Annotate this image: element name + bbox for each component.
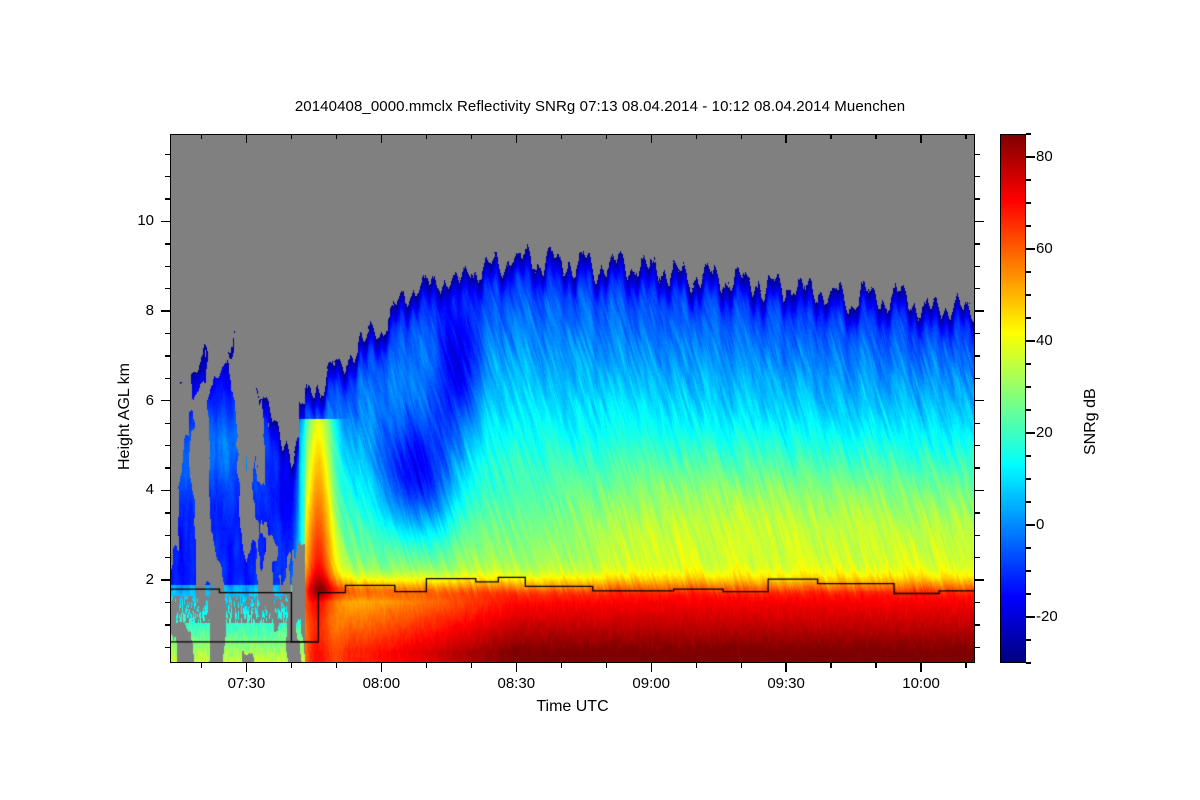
y-tick-minor [165,288,170,289]
y-tick-minor-right [975,333,980,334]
colorbar-tick-minor [1026,570,1031,571]
x-tick-minor [291,663,292,668]
y-tick-minor-right [975,198,980,199]
y-tick-minor-right [975,288,980,289]
y-tick-minor-right [975,423,980,424]
x-tick-major-top [920,134,921,143]
x-tick-minor-top [471,134,472,139]
x-tick-major [785,663,786,672]
y-tick-minor-right [975,602,980,603]
colorbar-tick-major [1026,432,1035,433]
x-axis-title: Time UTC [170,698,975,716]
y-tick-minor-right [975,266,980,267]
y-tick-major [161,400,170,401]
y-tick-minor [165,154,170,155]
y-tick-minor-right [975,378,980,379]
colorbar-tick-major [1026,616,1035,617]
x-tick-minor [741,663,742,668]
x-tick-minor [336,663,337,668]
x-tick-minor [875,663,876,668]
x-tick-minor [561,663,562,668]
y-tick-minor-right [975,176,980,177]
y-tick-minor-right [975,647,980,648]
colorbar-title: SNRg dB [1082,388,1100,455]
colorbar-tick-minor [1026,547,1031,548]
colorbar-tick-label: 80 [1036,148,1053,165]
colorbar-tick-minor [1026,225,1031,226]
x-tick-label: 08:30 [471,675,561,692]
y-tick-label: 8 [114,302,154,319]
colorbar-tick-minor [1026,179,1031,180]
y-tick-label: 10 [114,212,154,229]
reflectivity-heatmap [170,134,975,663]
colorbar [1000,134,1026,663]
colorbar-tick-minor [1026,363,1031,364]
colorbar-tick-minor [1026,639,1031,640]
colorbar-tick-major [1026,524,1035,525]
y-tick-major-right [975,221,984,222]
x-tick-major [651,663,652,672]
y-tick-minor-right [975,467,980,468]
colorbar-tick-label: 40 [1036,332,1053,349]
y-tick-minor-right [975,154,980,155]
colorbar-tick-minor [1026,662,1031,663]
colorbar-tick-minor [1026,271,1031,272]
y-tick-minor [165,624,170,625]
y-tick-major-right [975,400,984,401]
y-tick-minor [165,198,170,199]
colorbar-tick-minor [1026,317,1031,318]
colorbar-tick-minor [1026,386,1031,387]
colorbar-tick-major [1026,156,1035,157]
y-tick-minor [165,243,170,244]
figure-title: 20140408_0000.mmclx Reflectivity SNRg 07… [0,98,1200,115]
x-tick-minor-top [426,134,427,139]
colorbar-tick-minor [1026,501,1031,502]
x-tick-minor-top [561,134,562,139]
y-tick-minor [165,176,170,177]
x-tick-label: 08:00 [336,675,426,692]
x-tick-major-top [246,134,247,143]
y-tick-minor [165,647,170,648]
x-tick-major-top [785,134,786,143]
colorbar-tick-label: 60 [1036,240,1053,257]
colorbar-tick-minor [1026,294,1031,295]
x-tick-minor-top [741,134,742,139]
y-tick-label: 2 [114,571,154,588]
colorbar-tick-major [1026,340,1035,341]
x-tick-minor [426,663,427,668]
x-tick-label: 10:00 [876,675,966,692]
colorbar-tick-label: -20 [1036,608,1058,625]
colorbar-tick-minor [1026,133,1031,134]
x-tick-major-top [516,134,517,143]
x-tick-major [381,663,382,672]
y-tick-minor-right [975,557,980,558]
x-tick-major-top [651,134,652,143]
colorbar-tick-minor [1026,478,1031,479]
y-tick-minor-right [975,355,980,356]
y-tick-major-right [975,490,984,491]
colorbar-tick-label: 20 [1036,424,1053,441]
x-tick-major-top [381,134,382,143]
x-tick-minor [696,663,697,668]
y-tick-minor [165,557,170,558]
colorbar-frame [1000,134,1026,663]
y-tick-minor [165,266,170,267]
y-tick-minor-right [975,512,980,513]
x-tick-minor [471,663,472,668]
y-tick-label: 4 [114,481,154,498]
y-tick-major-right [975,579,984,580]
x-tick-major [920,663,921,672]
colorbar-tick-minor [1026,455,1031,456]
x-tick-minor [606,663,607,668]
y-tick-minor [165,445,170,446]
y-tick-minor-right [975,535,980,536]
plot-area [170,134,975,663]
y-tick-minor-right [975,624,980,625]
x-tick-minor-top [201,134,202,139]
y-tick-minor-right [975,243,980,244]
x-tick-minor-top [336,134,337,139]
x-tick-minor-top [291,134,292,139]
colorbar-tick-minor [1026,202,1031,203]
y-tick-minor [165,423,170,424]
x-tick-minor-top [875,134,876,139]
y-tick-minor [165,535,170,536]
x-tick-minor-top [606,134,607,139]
colorbar-tick-minor [1026,593,1031,594]
radar-reflectivity-figure: 20140408_0000.mmclx Reflectivity SNRg 07… [0,0,1200,800]
x-tick-minor-top [830,134,831,139]
y-tick-major-right [975,310,984,311]
x-tick-label: 09:00 [606,675,696,692]
x-tick-minor [201,663,202,668]
y-tick-minor [165,512,170,513]
colorbar-tick-label: 0 [1036,516,1044,533]
x-tick-major [516,663,517,672]
x-tick-minor-top [965,134,966,139]
y-tick-minor [165,355,170,356]
y-tick-minor [165,467,170,468]
y-tick-major [161,221,170,222]
x-tick-major [246,663,247,672]
y-tick-minor [165,333,170,334]
y-tick-major [161,490,170,491]
x-tick-minor [965,663,966,668]
y-axis-title: Height AGL km [116,363,134,470]
x-tick-minor-top [696,134,697,139]
y-tick-minor-right [975,445,980,446]
x-tick-label: 07:30 [201,675,291,692]
y-tick-major [161,579,170,580]
y-tick-minor [165,602,170,603]
colorbar-tick-minor [1026,409,1031,410]
colorbar-tick-major [1026,248,1035,249]
y-tick-major [161,310,170,311]
y-tick-minor [165,378,170,379]
x-tick-label: 09:30 [741,675,831,692]
x-tick-minor [830,663,831,668]
